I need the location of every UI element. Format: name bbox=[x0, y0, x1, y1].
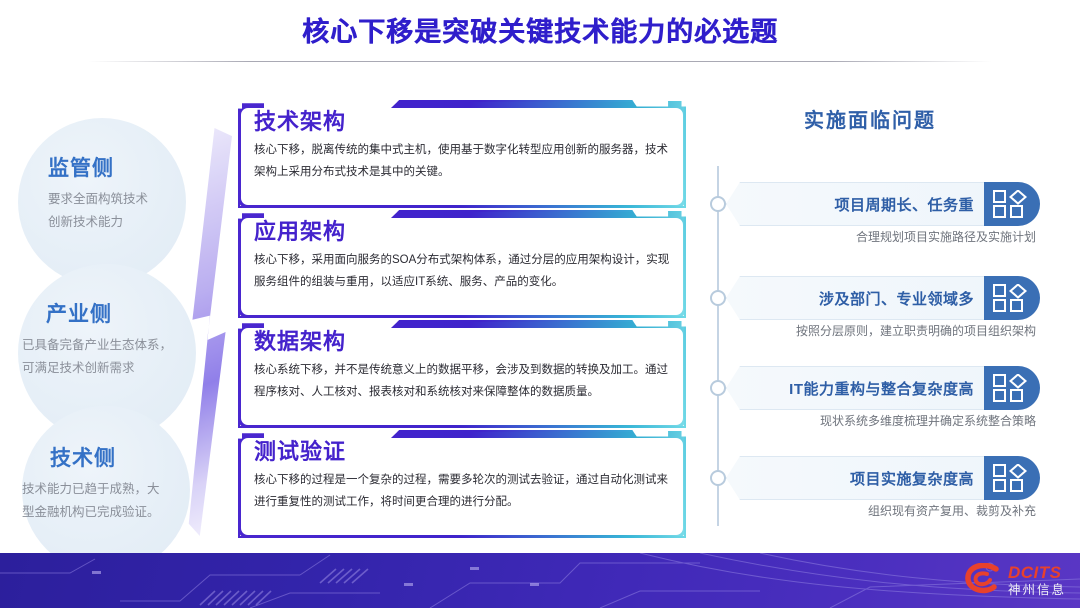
timeline-dot-icon bbox=[710, 290, 726, 306]
circuit-pattern-icon bbox=[0, 553, 1080, 608]
brand-logo: DCITS 神州信息 bbox=[963, 559, 1066, 601]
timeline-label: 涉及部门、专业领域多 bbox=[819, 276, 974, 320]
architecture-card[interactable]: 应用架构 核心下移，采用面向服务的SOA分布式架构体系，通过分层的应用架构设计，… bbox=[238, 210, 686, 318]
card-title: 数据架构 bbox=[254, 328, 672, 356]
architecture-card[interactable]: 技术架构 核心下移，脱离传统的集中式主机，使用基于数字化转型应用创新的服务器，技… bbox=[238, 100, 686, 208]
architecture-card-list: 技术架构 核心下移，脱离传统的集中式主机，使用基于数字化转型应用创新的服务器，技… bbox=[238, 100, 688, 540]
timeline-dot-icon bbox=[710, 380, 726, 396]
card-text: 核心系统下移，并不是传统意义上的数据平移，会涉及到数据的转换及加工。通过程序核对… bbox=[254, 359, 672, 404]
grid-diamond-icon bbox=[984, 182, 1040, 226]
card-title: 技术架构 bbox=[254, 108, 672, 136]
architecture-card[interactable]: 测试验证 核心下移的过程是一个复杂的过程，需要多轮次的测试去验证，通过自动化测试… bbox=[238, 430, 686, 538]
timeline-subtext: 现状系统多维度梳理并确定系统整合策略 bbox=[726, 412, 1040, 431]
left-column: 监管侧 要求全面构筑技术 创新技术能力 产业侧 已具备完备产业生态体系， 可满足… bbox=[0, 112, 218, 542]
logo-text: DCITS 神州信息 bbox=[1008, 564, 1066, 597]
timeline-subtext: 合理规划项目实施路径及实施计划 bbox=[726, 228, 1040, 247]
timeline-subtext: 组织现有资产复用、裁剪及补充 bbox=[726, 502, 1040, 521]
timeline-pill: 项目周期长、任务重 bbox=[726, 182, 1040, 226]
timeline-label: 项目周期长、任务重 bbox=[834, 182, 974, 226]
card-text: 核心下移的过程是一个复杂的过程，需要多轮次的测试去验证，通过自动化测试来进行重复… bbox=[254, 469, 672, 514]
timeline-subtext: 按照分层原则，建立职责明确的项目组织架构 bbox=[726, 322, 1040, 341]
card-text: 核心下移，采用面向服务的SOA分布式架构体系，通过分层的应用架构设计，实现服务组… bbox=[254, 249, 672, 294]
timeline-label: IT能力重构与整合复杂度高 bbox=[789, 366, 974, 410]
grid-diamond-icon bbox=[984, 276, 1040, 320]
architecture-card[interactable]: 数据架构 核心系统下移，并不是传统意义上的数据平移，会涉及到数据的转换及加工。通… bbox=[238, 320, 686, 428]
page-title: 核心下移是突破关键技术能力的必选题 bbox=[0, 10, 1080, 49]
logo-english: DCITS bbox=[1008, 564, 1066, 581]
timeline-dot-icon bbox=[710, 196, 726, 212]
timeline-dot-icon bbox=[710, 470, 726, 486]
right-column: 实施面临问题 项目周期长、任务重 合理规划项目实施路径及实施计划 涉及部门、专业… bbox=[700, 104, 1060, 544]
card-content: 技术架构 核心下移，脱离传统的集中式主机，使用基于数字化转型应用创新的服务器，技… bbox=[254, 108, 672, 183]
timeline-label: 项目实施复杂度高 bbox=[850, 456, 974, 500]
timeline-pill: 项目实施复杂度高 bbox=[726, 456, 1040, 500]
footer-bar: DCITS 神州信息 bbox=[0, 553, 1080, 608]
logo-chinese: 神州信息 bbox=[1008, 584, 1066, 597]
left-item-body: 已具备完备产业生态体系， 可满足技术创新需求 bbox=[22, 334, 232, 380]
card-title: 应用架构 bbox=[254, 218, 672, 246]
card-text: 核心下移，脱离传统的集中式主机，使用基于数字化转型应用创新的服务器，技术架构上采… bbox=[254, 139, 672, 184]
right-column-heading: 实施面临问题 bbox=[700, 104, 1040, 133]
left-item-heading: 监管侧 bbox=[30, 152, 240, 182]
timeline-pill: IT能力重构与整合复杂度高 bbox=[726, 366, 1040, 410]
swirl-logo-icon bbox=[963, 563, 1003, 597]
title-divider bbox=[88, 61, 992, 62]
card-title: 测试验证 bbox=[254, 438, 672, 466]
card-content: 测试验证 核心下移的过程是一个复杂的过程，需要多轮次的测试去验证，通过自动化测试… bbox=[254, 438, 672, 513]
card-content: 数据架构 核心系统下移，并不是传统意义上的数据平移，会涉及到数据的转换及加工。通… bbox=[254, 328, 672, 403]
timeline-pill: 涉及部门、专业领域多 bbox=[726, 276, 1040, 320]
card-content: 应用架构 核心下移，采用面向服务的SOA分布式架构体系，通过分层的应用架构设计，… bbox=[254, 218, 672, 293]
grid-diamond-icon bbox=[984, 456, 1040, 500]
grid-diamond-icon bbox=[984, 366, 1040, 410]
